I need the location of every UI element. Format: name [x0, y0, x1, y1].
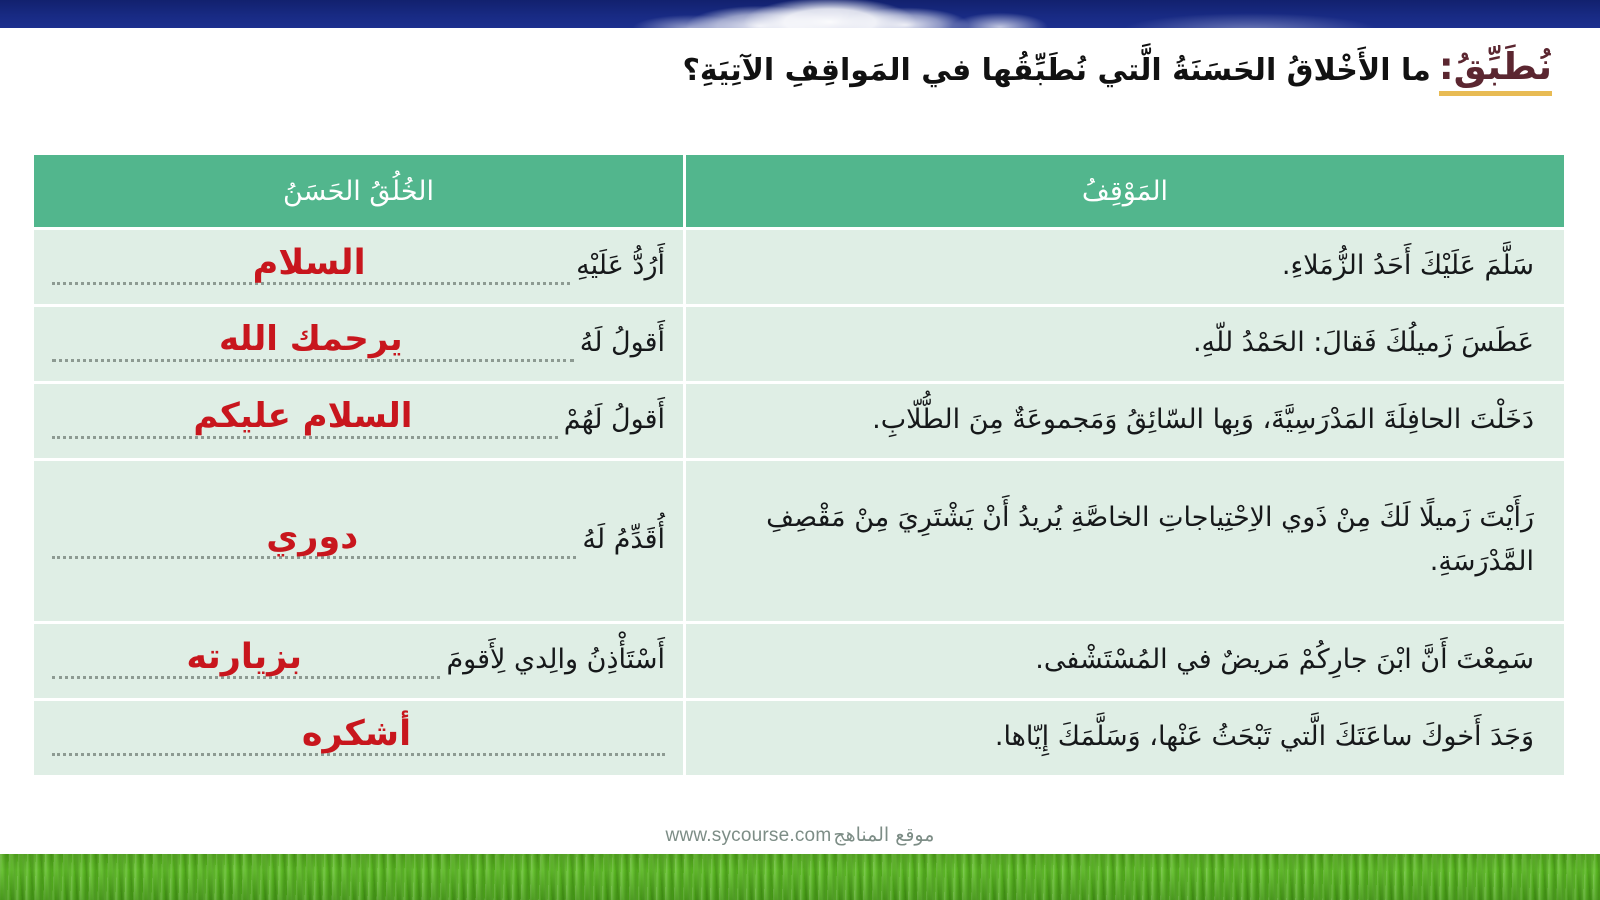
situation-cell: سَمِعْتَ أَنَّ ابْنَ جارِكُمْ مَريضٌ في … — [686, 624, 1564, 698]
table-header-row: المَوْقِفُ الخُلُقُ الحَسَنُ — [34, 155, 1564, 227]
title-question: ما الأَخْلاقُ الحَسَنَةُ الَّتي نُطَبِّق… — [682, 51, 1430, 90]
table-row: سَمِعْتَ أَنَّ ابْنَ جارِكُمْ مَريضٌ في … — [34, 624, 1564, 698]
situation-cell: دَخَلْتَ الحافِلَةَ المَدْرَسِيَّةَ، وَب… — [686, 384, 1564, 458]
watermark-url: www.sycourse.com — [666, 825, 832, 846]
situation-text: سَمِعْتَ أَنَّ ابْنَ جارِكُمْ مَريضٌ في … — [686, 624, 1564, 698]
manner-answer-area[interactable]: أَقولُ لَهُمْ السلام عليكم — [34, 384, 683, 458]
grass-strip-image — [0, 854, 1600, 900]
title-keyword: نُطَبِّقُ: — [1439, 44, 1552, 96]
situation-cell: رَأَيْتَ زَميلًا لَكَ مِنْ ذَوي الاِحْتِ… — [686, 461, 1564, 621]
site-watermark: موقع المناهجwww.sycourse.com — [0, 824, 1600, 847]
table-row: وَجَدَ أَخوكَ ساعَتَكَ الَّتي تَبْحَثُ ع… — [34, 701, 1564, 775]
answer-blank-line[interactable]: يرحمك الله — [48, 321, 574, 365]
situation-text: رَأَيْتَ زَميلًا لَكَ مِنْ ذَوي الاِحْتِ… — [686, 476, 1564, 605]
manner-prompt: أَقولُ لَهُمْ — [564, 400, 665, 441]
handwritten-answer: يرحمك الله — [209, 321, 413, 358]
manner-prompt: أَرُدُّ عَلَيْهِ — [576, 246, 665, 287]
manners-table: المَوْقِفُ الخُلُقُ الحَسَنُ سَلَّمَ عَل… — [31, 152, 1567, 778]
column-header-situation: المَوْقِفُ — [686, 155, 1564, 227]
answer-blank-line[interactable]: دوري — [48, 518, 576, 562]
situation-cell: وَجَدَ أَخوكَ ساعَتَكَ الَّتي تَبْحَثُ ع… — [686, 701, 1564, 775]
manner-prompt: أُقَدِّمُ لَهُ — [582, 520, 665, 561]
handwritten-answer: أشكره — [292, 715, 421, 754]
manner-answer-area[interactable]: أشكره — [34, 701, 683, 775]
sky-banner-image — [0, 0, 1600, 28]
manner-cell: أَرُدُّ عَلَيْهِ السلام — [34, 230, 683, 304]
situation-text: دَخَلْتَ الحافِلَةَ المَدْرَسِيَّةَ، وَب… — [686, 384, 1564, 458]
worksheet-page: نُطَبِّقُ:ما الأَخْلاقُ الحَسَنَةُ الَّت… — [0, 0, 1600, 900]
manner-answer-area[interactable]: أَرُدُّ عَلَيْهِ السلام — [34, 230, 683, 304]
manner-cell: أَسْتَأْذِنُ والِدي لِأَقومَ بزيارته — [34, 624, 683, 698]
manner-cell: أُقَدِّمُ لَهُ دوري — [34, 461, 683, 621]
watermark-arabic: موقع المناهج — [833, 824, 934, 846]
table-row: عَطَسَ زَميلُكَ فَقالَ: الحَمْدُ للّهِ. … — [34, 307, 1564, 381]
situation-text: وَجَدَ أَخوكَ ساعَتَكَ الَّتي تَبْحَثُ ع… — [686, 701, 1564, 775]
answer-blank-line[interactable]: السلام — [48, 244, 570, 288]
answer-blank-line[interactable]: أشكره — [48, 715, 665, 759]
manner-cell: أَقولُ لَهُ يرحمك الله — [34, 307, 683, 381]
situation-text: عَطَسَ زَميلُكَ فَقالَ: الحَمْدُ للّهِ. — [686, 307, 1564, 381]
manner-answer-area[interactable]: أَسْتَأْذِنُ والِدي لِأَقومَ بزيارته — [34, 624, 683, 698]
manner-answer-area[interactable]: أُقَدِّمُ لَهُ دوري — [34, 461, 683, 621]
manner-cell: أشكره — [34, 701, 683, 775]
column-header-manner: الخُلُقُ الحَسَنُ — [34, 155, 683, 227]
situation-cell: عَطَسَ زَميلُكَ فَقالَ: الحَمْدُ للّهِ. — [686, 307, 1564, 381]
manner-answer-area[interactable]: أَقولُ لَهُ يرحمك الله — [34, 307, 683, 381]
handwritten-answer: بزيارته — [176, 638, 312, 677]
manner-prompt: أَسْتَأْذِنُ والِدي لِأَقومَ — [446, 640, 665, 681]
answer-blank-line[interactable]: بزيارته — [48, 638, 440, 682]
handwritten-answer: السلام — [243, 244, 376, 283]
page-title: نُطَبِّقُ:ما الأَخْلاقُ الحَسَنَةُ الَّت… — [48, 44, 1552, 96]
manner-prompt: أَقولُ لَهُ — [580, 323, 665, 364]
situation-text: سَلَّمَ عَلَيْكَ أَحَدُ الزُّمَلاءِ. — [686, 230, 1564, 304]
table-row: رَأَيْتَ زَميلًا لَكَ مِنْ ذَوي الاِحْتِ… — [34, 461, 1564, 621]
table-row: دَخَلْتَ الحافِلَةَ المَدْرَسِيَّةَ، وَب… — [34, 384, 1564, 458]
handwritten-answer: دوري — [256, 518, 368, 557]
situation-cell: سَلَّمَ عَلَيْكَ أَحَدُ الزُّمَلاءِ. — [686, 230, 1564, 304]
answer-blank-line[interactable]: السلام عليكم — [48, 398, 558, 442]
table-row: سَلَّمَ عَلَيْكَ أَحَدُ الزُّمَلاءِ. أَر… — [34, 230, 1564, 304]
handwritten-answer: السلام عليكم — [183, 398, 422, 435]
manner-cell: أَقولُ لَهُمْ السلام عليكم — [34, 384, 683, 458]
